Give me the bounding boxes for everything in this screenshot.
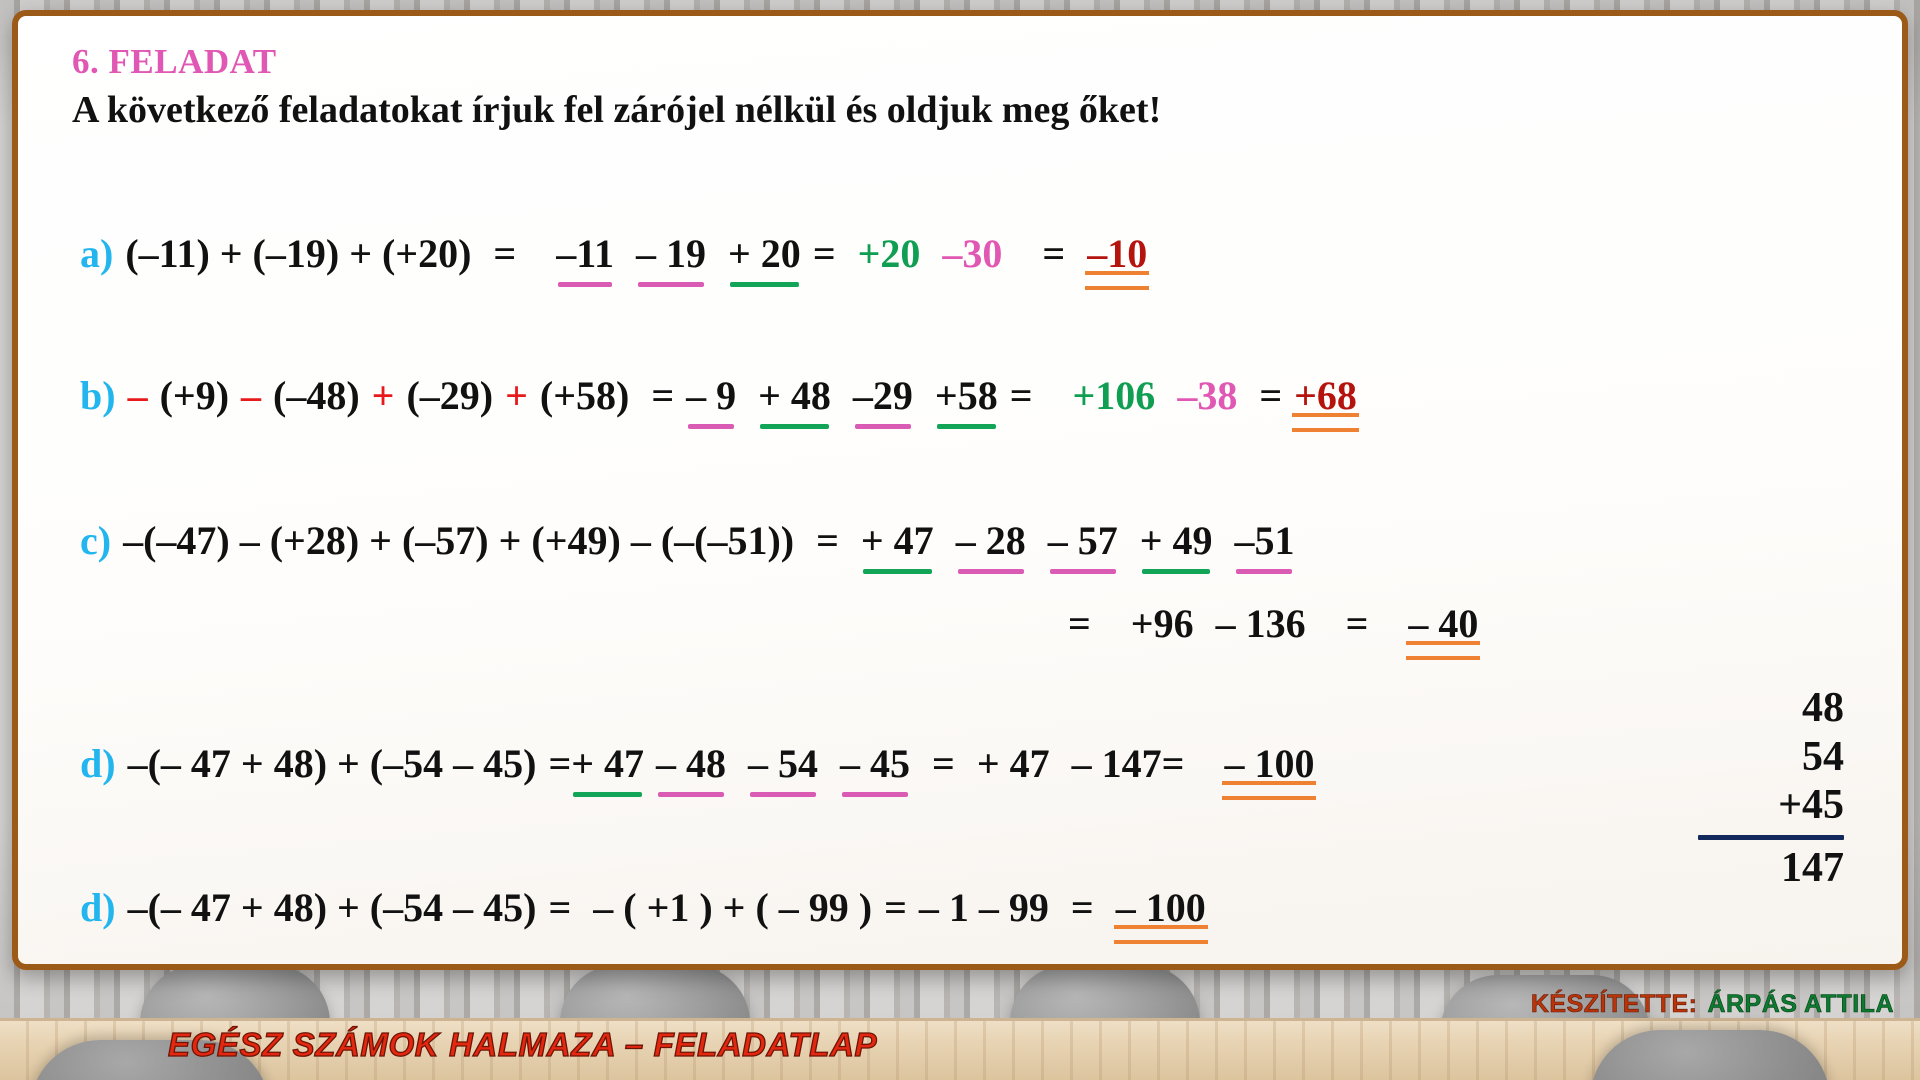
- row-b-positive-sum: +106: [1073, 376, 1156, 416]
- equation-row-c-continued: =+96– 136=– 40: [1068, 604, 1478, 644]
- credit-badge: KÉSZÍTETTE:ÁRPÁS ATTILA: [1531, 990, 1894, 1019]
- row-c-term-2: – 28: [956, 521, 1026, 561]
- row-b-op-1: –: [128, 376, 148, 416]
- row-a-expression: (–11) + (–19) + (+20): [125, 234, 471, 274]
- vertical-addend-1: 48: [1684, 684, 1844, 733]
- row-d2-grouped: – ( +1 ) + ( – 99 ): [593, 888, 872, 928]
- row-d1-positive-sum: + 47: [977, 744, 1050, 784]
- row-b-equals-2: =: [1010, 376, 1033, 416]
- row-b-equals-1: =: [651, 376, 674, 416]
- equation-row-c: c)–(–47) – (+28) + (–57) + (+49) – (–(–5…: [80, 521, 1294, 561]
- vertical-addend-2: 54: [1684, 733, 1844, 782]
- row-a-term-3: + 20: [728, 234, 801, 274]
- row-b-paren-2: (–48): [273, 376, 360, 416]
- row-b-paren-1: (+9): [160, 376, 229, 416]
- worksheet-panel: 6. FELADAT A következő feladatokat írjuk…: [12, 10, 1908, 970]
- equation-row-b: b)–(+9)–(–48)+(–29)+(+58)=– 9+ 48–29+58=…: [80, 376, 1357, 416]
- row-b-term-2: + 48: [758, 376, 831, 416]
- credit-label: KÉSZÍTETTE:: [1531, 990, 1698, 1018]
- row-b-negative-sum: –38: [1177, 376, 1237, 416]
- row-c-equals-3: =: [1346, 604, 1369, 644]
- row-a-equals-1: =: [493, 234, 516, 274]
- row-d1-equals-1: =: [548, 744, 571, 784]
- row-c-term-4: + 49: [1140, 521, 1213, 561]
- row-b-result: +68: [1294, 376, 1357, 416]
- row-b-paren-4: (+58): [540, 376, 629, 416]
- row-c-expression: –(–47) – (+28) + (–57) + (+49) – (–(–51)…: [123, 521, 794, 561]
- row-d2-equals-1: =: [548, 888, 571, 928]
- vertical-addition: 48 54 +45 147: [1684, 684, 1844, 893]
- row-b-equals-3: =: [1259, 376, 1282, 416]
- row-c-negative-sum: – 136: [1216, 604, 1306, 644]
- row-a-positive-sum: +20: [858, 234, 921, 274]
- row-c-equals-1: =: [816, 521, 839, 561]
- vertical-addend-3: +45: [1684, 781, 1844, 830]
- row-c-positive-sum: +96: [1131, 604, 1194, 644]
- row-d2-label: d): [80, 888, 116, 928]
- task-instruction: A következő feladatokat írjuk fel záróje…: [72, 88, 1866, 132]
- row-c-term-3: – 57: [1048, 521, 1118, 561]
- row-a-equals-2: =: [813, 234, 836, 274]
- row-a-term-2: – 19: [636, 234, 706, 274]
- vertical-total: 147: [1684, 844, 1844, 893]
- row-b-op-4: +: [505, 376, 528, 416]
- row-d1-equals-2: =: [932, 744, 955, 784]
- row-d1-negative-sum: – 147: [1072, 744, 1162, 784]
- row-d1-equals-3: =: [1162, 744, 1185, 784]
- row-a-result: –10: [1087, 234, 1147, 274]
- row-d2-equals-3: =: [1071, 888, 1094, 928]
- row-d1-expression: –(– 47 + 48) + (–54 – 45): [128, 744, 537, 784]
- row-c-label: c): [80, 521, 111, 561]
- row-b-term-1: – 9: [686, 376, 736, 416]
- equation-row-d1: d)–(– 47 + 48) + (–54 – 45)=+ 47– 48– 54…: [80, 744, 1314, 784]
- row-b-op-3: +: [372, 376, 395, 416]
- row-a-term-1: –11: [556, 234, 614, 274]
- row-d1-result: – 100: [1224, 744, 1314, 784]
- row-a-label: a): [80, 234, 113, 274]
- task-number: 6. FELADAT: [72, 42, 1866, 82]
- row-b-term-3: –29: [853, 376, 913, 416]
- row-d2-simplified: – 1 – 99: [919, 888, 1049, 928]
- equation-row-d2: d)–(– 47 + 48) + (–54 – 45)=– ( +1 ) + (…: [80, 888, 1206, 928]
- row-a-equals-3: =: [1042, 234, 1065, 274]
- row-d1-term-1: + 47: [571, 744, 644, 784]
- credit-name: ÁRPÁS ATTILA: [1707, 990, 1894, 1018]
- row-c-term-1: + 47: [861, 521, 934, 561]
- row-d2-equals-2: =: [884, 888, 907, 928]
- row-c-result: – 40: [1408, 604, 1478, 644]
- row-d1-term-4: – 45: [840, 744, 910, 784]
- row-b-term-4: +58: [935, 376, 998, 416]
- vertical-sum-rule: [1698, 835, 1844, 840]
- row-b-label: b): [80, 376, 116, 416]
- row-c-equals-2: =: [1068, 604, 1091, 644]
- row-c-term-5: –51: [1234, 521, 1294, 561]
- row-d2-expression: –(– 47 + 48) + (–54 – 45): [128, 888, 537, 928]
- row-a-negative-sum: –30: [942, 234, 1002, 274]
- row-b-paren-3: (–29): [406, 376, 493, 416]
- row-d1-term-2: – 48: [656, 744, 726, 784]
- row-d2-result: – 100: [1116, 888, 1206, 928]
- footer-title: EGÉSZ SZÁMOK HALMAZA – FELADATLAP: [168, 1026, 877, 1064]
- row-b-op-2: –: [241, 376, 261, 416]
- row-d1-term-3: – 54: [748, 744, 818, 784]
- equation-row-a: a)(–11) + (–19) + (+20)=–11– 19+ 20=+20–…: [80, 234, 1147, 274]
- slide-stage: 6. FELADAT A következő feladatokat írjuk…: [0, 0, 1920, 1080]
- row-d1-label: d): [80, 744, 116, 784]
